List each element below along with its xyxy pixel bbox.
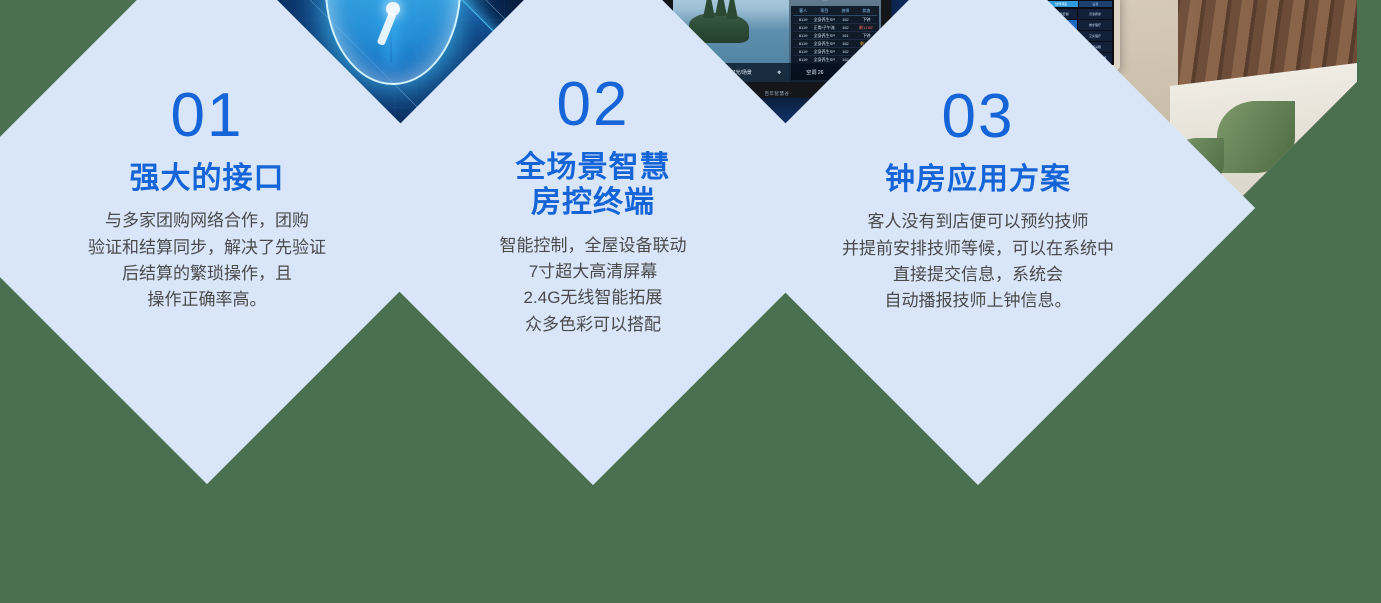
plant-icon [1217, 101, 1295, 173]
panel-1-number: 01 [171, 85, 244, 147]
desc-line: 后结算的繁琐操作，且 [88, 261, 326, 287]
grid-item[interactable]: 足浴按摩 [1078, 9, 1112, 19]
feature-diamond-layout: 01 强大的接口 与多家团购网络合作，团购 验证和结算同步，解决了先验证 后结算… [0, 0, 1381, 603]
date-label: 11/24 [847, 0, 859, 2]
tree-icon [715, 0, 727, 16]
panel-3-headline: 钟房应用方案 [885, 162, 1071, 197]
desc-line: 7寸超大高清屏幕 [500, 259, 687, 285]
temperature-label: 31°C [832, 0, 843, 2]
desc-line: 众多色彩可以搭配 [500, 312, 687, 338]
room-label: SPA6房 [810, 0, 827, 2]
headline-line: 全场景智慧 [516, 150, 671, 185]
panel-3-number: 03 [942, 86, 1015, 148]
desc-line: 操作正确率高。 [88, 287, 326, 313]
col-item: 项目 [814, 8, 835, 14]
table-row: 8119 正骨/子午流注灸疗 162 剩11'50" [793, 24, 877, 32]
desc-line: 客人没有到店便可以预约技师 [842, 209, 1114, 235]
desc-line: 直接提交信息，系统会 [842, 262, 1114, 288]
screen-meta: SPA6房 31°C 11/24 [789, 0, 881, 4]
dock-item[interactable]: 空调 26 [806, 69, 823, 76]
wall-panel-tab[interactable]: 设置 [1079, 1, 1112, 7]
col-guest: 客人 [793, 8, 814, 14]
desc-line: 智能控制，全屋设备联动 [500, 233, 687, 259]
headline-line: 钟房应用方案 [885, 162, 1071, 197]
panel-1-headline: 强大的接口 [130, 161, 285, 196]
keyhole-icon [386, 2, 400, 16]
desc-line: 自动播报技师上钟信息。 [842, 288, 1114, 314]
desc-line: 验证和结算同步，解决了先验证 [88, 235, 326, 261]
panel-1-description: 与多家团购网络合作，团购 验证和结算同步，解决了先验证 后结算的繁琐操作，且 操… [88, 208, 326, 313]
tree-icon [703, 0, 715, 18]
headline-line: 房控终端 [516, 185, 671, 220]
grid-item[interactable]: 推拿理疗 [1078, 20, 1112, 30]
panel-2-number: 02 [557, 74, 630, 136]
col-tech: 技师 [835, 8, 856, 14]
home-icon[interactable]: ❖ [777, 70, 781, 76]
headline-line: 强大的接口 [130, 161, 285, 196]
desc-line: 2.4G无线智能拓展 [500, 285, 687, 311]
panel-3-description: 客人没有到店便可以预约技师 并提前安排技师等候，可以在系统中 直接提交信息，系统… [842, 209, 1114, 314]
panel-2-headline: 全场景智慧 房控终端 [516, 150, 671, 221]
desc-line: 并提前安排技师等候，可以在系统中 [842, 236, 1114, 262]
table-row: 8119 全身养生SPA 161 下钟 [793, 32, 877, 40]
table-row: 8119 全身养生SPA 162 下钟 [793, 16, 877, 24]
desc-line: 与多家团购网络合作，团购 [88, 208, 326, 234]
col-status: 状态 [856, 8, 877, 14]
panel-2-description: 智能控制，全屋设备联动 7寸超大高清屏幕 2.4G无线智能拓展 众多色彩可以搭配 [500, 233, 687, 338]
table-header-row: 客人 项目 技师 状态 [793, 8, 877, 16]
tree-icon [726, 0, 738, 19]
